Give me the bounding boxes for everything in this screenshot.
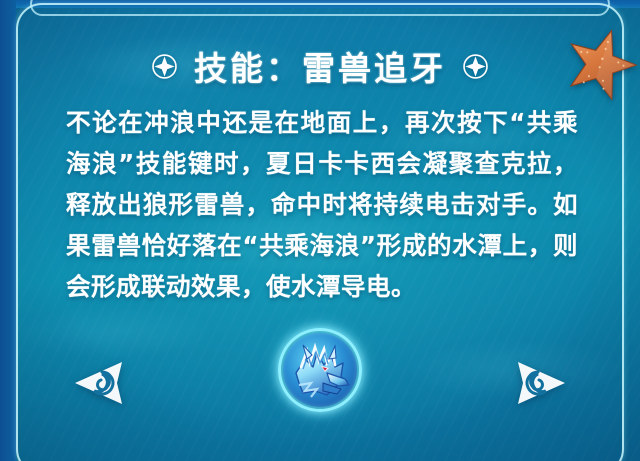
skill-info-card: 技能：雷兽追牙 不论在冲浪中还是在地面上，再次按下“共乘海浪”技能键时，夏日卡卡… [0, 0, 640, 461]
title-row: 技能：雷兽追牙 [0, 42, 640, 90]
page-title: 技能：雷兽追牙 [194, 42, 446, 90]
top-bar [16, 0, 640, 8]
prev-arrow[interactable] [72, 358, 128, 408]
shuriken-icon [151, 53, 178, 80]
skill-description: 不论在冲浪中还是在地面上，再次按下“共乘海浪”技能键时，夏日卡卡西会凝聚查克拉，… [66, 102, 578, 307]
next-arrow[interactable] [512, 358, 568, 408]
thunder-beast-skill-icon[interactable] [278, 328, 362, 412]
shuriken-icon [462, 53, 489, 80]
skill-icon-ring [278, 328, 362, 412]
